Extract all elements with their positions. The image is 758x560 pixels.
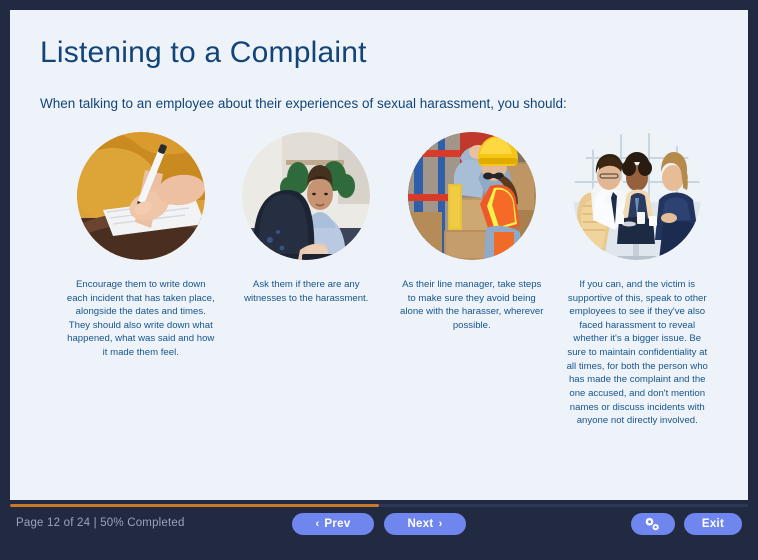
- course-player: Listening to a Complaint When talking to…: [0, 0, 758, 560]
- info-card: If you can, and the victim is supportive…: [557, 132, 719, 428]
- exit-button[interactable]: Exit: [684, 513, 742, 535]
- next-button[interactable]: Next ›: [384, 513, 466, 535]
- prev-button-label: Prev: [324, 518, 350, 530]
- card-caption: As their line manager, take steps to mak…: [398, 278, 546, 332]
- slide-navigation: ‹ Prev Next ›: [292, 513, 466, 535]
- slide-subtitle: When talking to an employee about their …: [38, 71, 720, 113]
- progress-bar[interactable]: [10, 504, 748, 507]
- cogs-icon: [645, 517, 661, 531]
- player-footer: Page 12 of 24 | 50% Completed ‹ Prev Nex…: [0, 500, 758, 560]
- page-status-text: Page 12 of 24 | 50% Completed: [16, 517, 185, 529]
- player-actions: Exit: [631, 513, 742, 535]
- chevron-left-icon: ‹: [315, 519, 319, 530]
- settings-button[interactable]: [631, 513, 675, 535]
- next-button-label: Next: [407, 518, 433, 530]
- info-card: As their line manager, take steps to mak…: [391, 132, 553, 332]
- card-caption: If you can, and the victim is supportive…: [563, 278, 711, 428]
- slide-stage: Listening to a Complaint When talking to…: [10, 10, 748, 500]
- prev-button[interactable]: ‹ Prev: [292, 513, 374, 535]
- photo-person-writing-notes: [77, 132, 205, 260]
- photo-three-colleagues-meeting: [573, 132, 701, 260]
- chevron-right-icon: ›: [439, 519, 443, 530]
- progress-bar-fill: [10, 504, 379, 507]
- info-card: Encourage them to write down each incide…: [60, 132, 222, 360]
- slide-content: Listening to a Complaint When talking to…: [10, 10, 748, 500]
- info-card: Ask them if there are any witnesses to t…: [226, 132, 388, 305]
- photo-two-women-talking: [242, 132, 370, 260]
- card-caption: Encourage them to write down each incide…: [67, 278, 215, 360]
- page-title: Listening to a Complaint: [38, 36, 720, 71]
- card-caption: Ask them if there are any witnesses to t…: [232, 278, 380, 305]
- exit-button-label: Exit: [702, 518, 724, 530]
- photo-warehouse-workers: [408, 132, 536, 260]
- card-row: Encourage them to write down each incide…: [38, 112, 720, 428]
